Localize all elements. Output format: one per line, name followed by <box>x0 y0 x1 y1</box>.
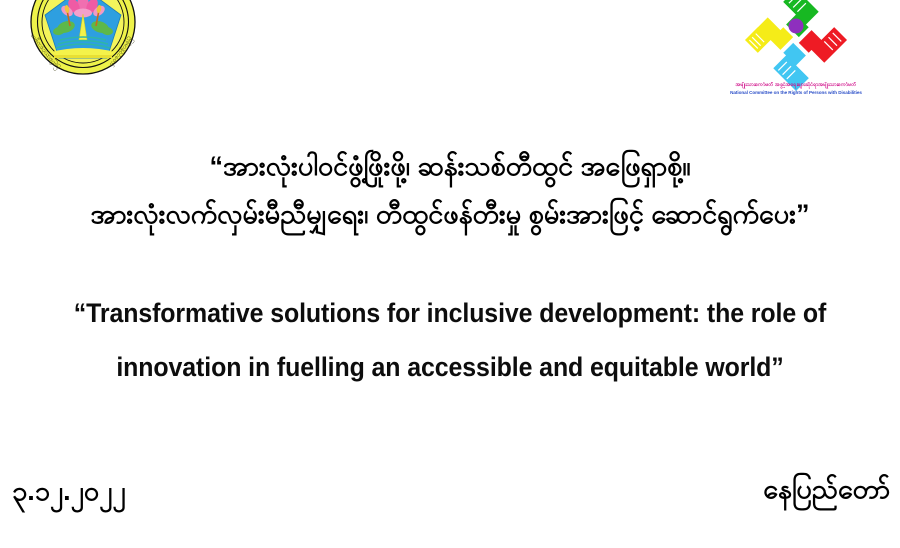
ncrpd-caption-english: National Committee on the Rights of Pers… <box>697 90 895 96</box>
center-dot-icon <box>789 19 804 34</box>
headline-burmese-line-2: အားလုံးလက်လှမ်းမီညီမျှရေး၊ တီထွင်ဖန်တီးမ… <box>0 190 900 238</box>
headline-english-line-1: “Transformative solutions for inclusive … <box>27 286 873 340</box>
footer-place: နေပြည်တော် <box>763 470 890 508</box>
footer-date: ၃.၁၂.၂၀၂၂ <box>12 472 126 510</box>
headline-english-line-2: innovation in fuelling an accessible and… <box>27 340 873 394</box>
ncrpd-caption-burmese: အမျိုးသားကော်မတီ အခွင့်အရေးများဆိုင်ရာအမ… <box>697 82 895 89</box>
headline-burmese: “အားလုံးပါဝင်ဖွံ့ဖြိုးဖို့၊ ဆန်းသစ်တီထွင… <box>0 142 900 238</box>
slide-canvas: ပြည်ထောင်စုသမ္မတ မြန်မာနိုင်ငံတော် <box>0 0 900 548</box>
headline-burmese-line-1: “အားလုံးပါဝင်ဖွံ့ဖြိုးဖို့၊ ဆန်းသစ်တီထွင… <box>0 142 900 190</box>
headline-english: “Transformative solutions for inclusive … <box>27 286 873 394</box>
seal-icon: ပြည်ထောင်စုသမ္မတ မြန်မာနိုင်ငံတော် <box>4 0 162 88</box>
myanmar-government-seal-logo: ပြည်ထောင်စုသမ္မတ မြန်မာနိုင်ငံတော် <box>4 0 162 88</box>
